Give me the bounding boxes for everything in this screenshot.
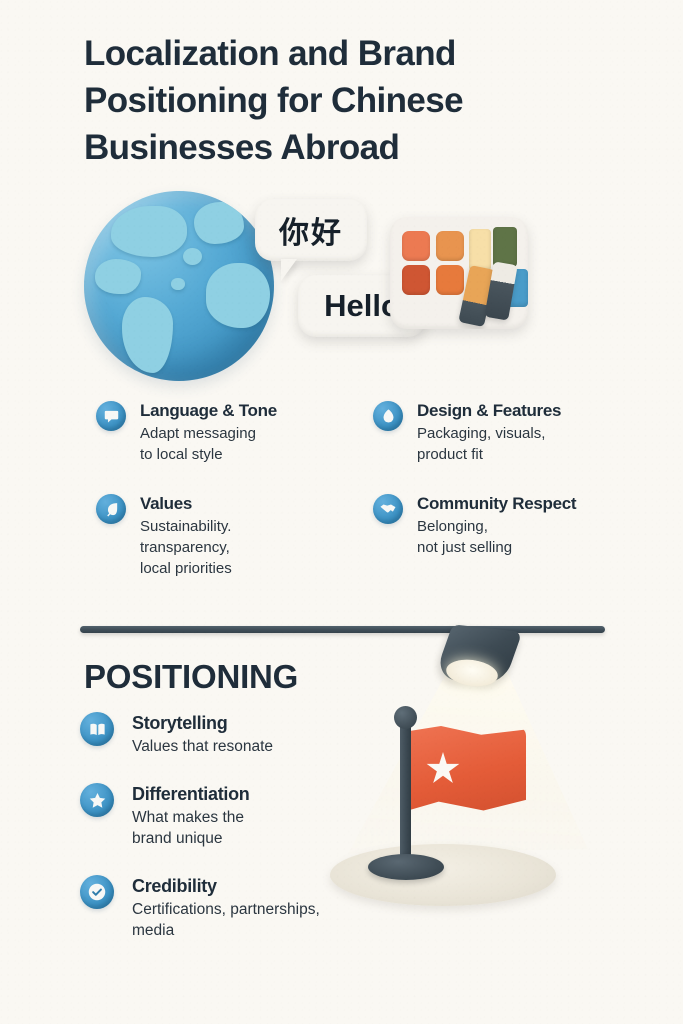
leaf-icon bbox=[373, 401, 403, 431]
localization-row-2: Values Sustainability. transparency, loc… bbox=[96, 493, 626, 579]
spotlight-flag-illustration bbox=[330, 626, 660, 926]
color-palette-icon bbox=[390, 217, 528, 329]
localization-item-desc: Belonging, not just selling bbox=[417, 516, 612, 558]
flag-pole-knob bbox=[394, 706, 417, 729]
localization-item-community-respect: Community Respect Belonging, not just se… bbox=[373, 493, 612, 558]
positioning-heading: POSITIONING bbox=[84, 658, 298, 696]
localization-row-1: Language & Tone Adapt messaging to local… bbox=[96, 400, 626, 465]
localization-item-title: Design & Features bbox=[417, 400, 612, 422]
localization-cell-2: Design & Features Packaging, visuals, pr… bbox=[361, 400, 626, 465]
hero-illustration: 你好 Hello bbox=[80, 185, 550, 385]
check-circle-icon bbox=[80, 875, 114, 909]
localization-cell-1: Language & Tone Adapt messaging to local… bbox=[96, 400, 361, 465]
speech-bubble-chinese: 你好 bbox=[255, 199, 367, 261]
globe-icon bbox=[84, 191, 274, 381]
localization-item-title: Language & Tone bbox=[140, 400, 347, 422]
flag-cloth bbox=[408, 726, 526, 814]
open-book-icon bbox=[80, 712, 114, 746]
handshake-icon bbox=[373, 494, 403, 524]
localization-cell-4: Community Respect Belonging, not just se… bbox=[361, 493, 626, 579]
star-icon bbox=[80, 783, 114, 817]
localization-item-title: Community Respect bbox=[417, 493, 612, 515]
speech-bubble-english-text: Hello bbox=[324, 288, 400, 324]
speech-bubble-icon bbox=[96, 401, 126, 431]
localization-item-desc: Sustainability. transparency, local prio… bbox=[140, 516, 347, 579]
localization-item-desc: Adapt messaging to local style bbox=[140, 423, 347, 465]
localization-item-language-tone: Language & Tone Adapt messaging to local… bbox=[96, 400, 347, 465]
infographic-page: Localization and Brand Positioning for C… bbox=[0, 0, 683, 1024]
localization-item-values: Values Sustainability. transparency, loc… bbox=[96, 493, 347, 579]
localization-grid: Language & Tone Adapt messaging to local… bbox=[96, 400, 626, 579]
localization-cell-3: Values Sustainability. transparency, loc… bbox=[96, 493, 361, 579]
stage-floor bbox=[330, 844, 556, 906]
localization-item-title: Values bbox=[140, 493, 347, 515]
flag-pole bbox=[400, 714, 411, 864]
flag-base bbox=[368, 854, 444, 880]
localization-item-desc: Packaging, visuals, product fit bbox=[417, 423, 612, 465]
page-title: Localization and Brand Positioning for C… bbox=[84, 30, 584, 171]
speech-bubble-chinese-text: 你好 bbox=[279, 208, 343, 252]
sprout-leaf-icon bbox=[96, 494, 126, 524]
localization-item-design-features: Design & Features Packaging, visuals, pr… bbox=[373, 400, 612, 465]
